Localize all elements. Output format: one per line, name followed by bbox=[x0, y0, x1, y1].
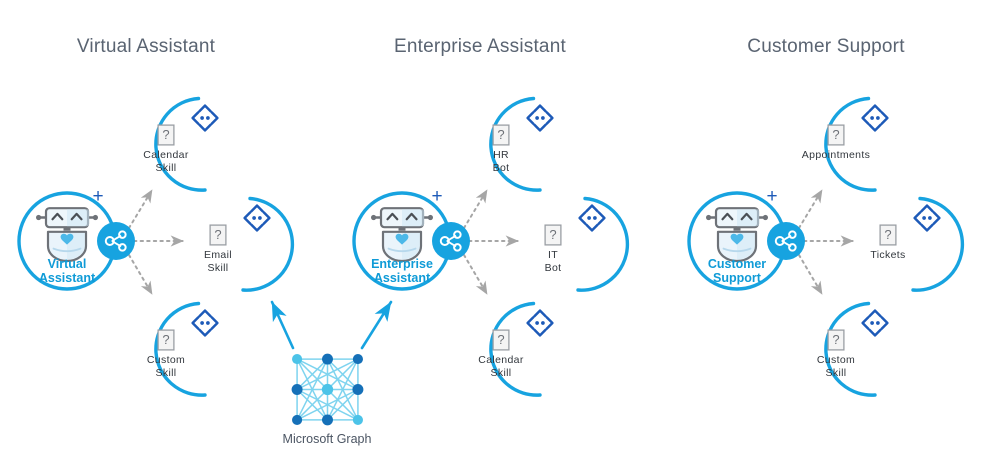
four-way-arrows-icon bbox=[863, 106, 888, 131]
skill-label-line-1: Custom bbox=[817, 354, 855, 366]
skill-label-line-2: Skill bbox=[155, 162, 176, 174]
four-way-arrows-icon bbox=[580, 206, 605, 231]
four-way-arrows-icon bbox=[245, 206, 270, 231]
skill-node-it-bot[interactable]: IT Bot bbox=[545, 199, 628, 291]
skill-connectors bbox=[464, 190, 518, 294]
bot-icon bbox=[706, 208, 768, 261]
question-box-icon bbox=[828, 125, 844, 145]
four-way-arrows-icon bbox=[863, 311, 888, 336]
bot-node-enterprise-assistant[interactable]: Enterprise Assistant + bbox=[354, 186, 470, 289]
cluster-title-customer-support: Customer Support bbox=[747, 36, 905, 57]
skill-label-line-1: Appointments bbox=[802, 149, 870, 161]
skill-label-line-2: Skill bbox=[207, 262, 228, 274]
question-box-icon bbox=[493, 125, 509, 145]
skill-node-calendar-skill[interactable]: Calendar Skill bbox=[143, 99, 217, 191]
cluster-virtual-assistant: Calendar Skill Email Skill Custom Skill … bbox=[19, 99, 292, 396]
bot-label-line-2: Assistant bbox=[374, 271, 431, 285]
skill-node-tickets[interactable]: Tickets bbox=[870, 199, 962, 291]
arrow-to-enterprise-assistant bbox=[362, 302, 391, 348]
bot-label-line-1: Enterprise bbox=[371, 257, 433, 271]
microsoft-graph-label: Microsoft Graph bbox=[283, 432, 372, 446]
skill-label-line-1: Calendar bbox=[143, 149, 189, 161]
bot-node-customer-support[interactable]: Customer Support + bbox=[689, 186, 805, 289]
arrow-to-virtual-assistant bbox=[272, 302, 293, 348]
share-hub-circle[interactable] bbox=[432, 222, 470, 260]
connector-to-calendar-skill bbox=[464, 255, 487, 294]
skill-label-line-1: Custom bbox=[147, 354, 185, 366]
bot-label-line-2: Support bbox=[713, 271, 762, 285]
skill-connectors bbox=[129, 190, 183, 294]
four-way-arrows-icon bbox=[193, 311, 218, 336]
skill-label-line-1: IT bbox=[548, 249, 558, 261]
skill-label-line-2: Bot bbox=[545, 262, 562, 274]
skill-label-line-2: Skill bbox=[825, 367, 846, 379]
skill-label-line-1: Email bbox=[204, 249, 232, 261]
share-hub-circle[interactable] bbox=[767, 222, 805, 260]
skill-label-line-1: HR bbox=[493, 149, 509, 161]
four-way-arrows-icon bbox=[528, 311, 553, 336]
question-box-icon bbox=[158, 125, 174, 145]
connector-to-hr-bot bbox=[464, 190, 487, 228]
bot-icon bbox=[36, 208, 98, 261]
connector-to-custom-skill-2 bbox=[799, 255, 822, 294]
bot-label-line-1: Virtual bbox=[48, 257, 87, 271]
four-way-arrows-icon bbox=[528, 106, 553, 131]
skill-label-line-2: Skill bbox=[490, 367, 511, 379]
bot-label-line-2: Assistant bbox=[39, 271, 96, 285]
cluster-title-virtual-assistant: Virtual Assistant bbox=[77, 36, 216, 57]
question-box-icon bbox=[158, 330, 174, 350]
bot-node-virtual-assistant[interactable]: Virtual Assistant + bbox=[19, 186, 135, 289]
skill-node-calendar-skill-2[interactable]: Calendar Skill bbox=[478, 304, 552, 396]
connector-to-calendar-skill bbox=[129, 190, 152, 228]
skill-node-hr-bot[interactable]: HR Bot bbox=[491, 99, 553, 191]
cluster-enterprise-assistant: HR Bot IT Bot Calendar Skill Enterprise … bbox=[354, 99, 627, 396]
cluster-title-enterprise-assistant: Enterprise Assistant bbox=[394, 36, 566, 57]
skill-label-line-1: Calendar bbox=[478, 354, 524, 366]
four-way-arrows-icon bbox=[193, 106, 218, 131]
skill-node-custom-skill[interactable]: Custom Skill bbox=[147, 304, 218, 396]
plus-icon[interactable]: + bbox=[766, 186, 777, 207]
question-box-icon bbox=[828, 330, 844, 350]
graph-network-icon bbox=[292, 354, 364, 426]
plus-icon[interactable]: + bbox=[431, 186, 442, 207]
share-hub-circle[interactable] bbox=[97, 222, 135, 260]
connector-to-custom-skill bbox=[129, 255, 152, 294]
diagram-canvas: ? bbox=[0, 0, 999, 459]
question-box-icon bbox=[210, 225, 226, 245]
skill-label-line-2: Bot bbox=[493, 162, 510, 174]
skill-node-email-skill[interactable]: Email Skill bbox=[204, 199, 292, 291]
four-way-arrows-icon bbox=[915, 206, 940, 231]
question-box-icon bbox=[880, 225, 896, 245]
skill-label-line-1: Tickets bbox=[870, 249, 905, 261]
bot-icon bbox=[371, 208, 433, 261]
bot-label-line-1: Customer bbox=[708, 257, 766, 271]
skill-connectors bbox=[799, 190, 853, 294]
skill-node-custom-skill-2[interactable]: Custom Skill bbox=[817, 304, 888, 396]
skill-label-line-2: Skill bbox=[155, 367, 176, 379]
cluster-customer-support: Appointments Tickets Custom Skill Custom… bbox=[689, 99, 962, 396]
skill-node-appointments[interactable]: Appointments bbox=[802, 99, 888, 191]
plus-icon[interactable]: + bbox=[92, 186, 103, 207]
connector-to-appointments bbox=[799, 190, 822, 228]
question-box-icon bbox=[545, 225, 561, 245]
microsoft-graph-node[interactable]: Microsoft Graph bbox=[272, 302, 391, 446]
question-box-icon bbox=[493, 330, 509, 350]
